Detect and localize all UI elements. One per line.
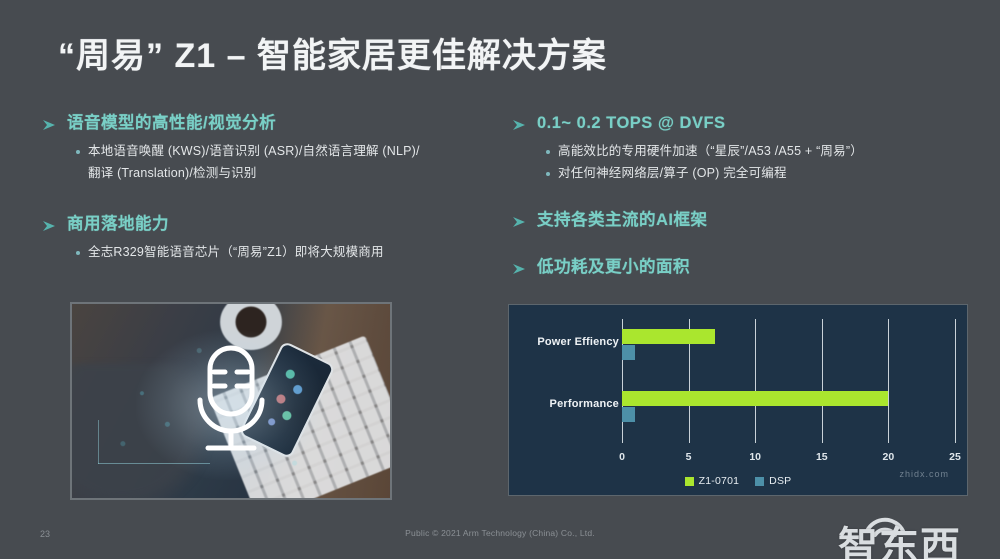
bullet-heading-text: 支持各类主流的AI框架 (537, 209, 708, 231)
dot-bullet-icon (546, 150, 550, 154)
bullet-heading-text: 0.1~ 0.2 TOPS @ DVFS (537, 112, 726, 134)
microphone-icon (192, 344, 270, 458)
bullet-heading-text: 低功耗及更小的面积 (537, 256, 690, 278)
chart-legend-label: DSP (769, 475, 791, 487)
bullet-heading-row: 语音模型的高性能/视觉分析 (42, 112, 512, 135)
bullet-heading-row: 0.1~ 0.2 TOPS @ DVFS (512, 112, 982, 135)
sub-bullet-list: 高能效比的专用硬件加速（“星辰”/A53 /A55 + “周易”） 对任何神经网… (546, 141, 982, 183)
chart-tick-label: 25 (949, 451, 961, 463)
chart-gridline (822, 319, 823, 443)
chart-tick-label: 20 (883, 451, 895, 463)
chart-gridline (888, 319, 889, 443)
chart-tick-label: 5 (686, 451, 692, 463)
bullet-heading-row: 商用落地能力 (42, 213, 512, 236)
chart-legend-item: Z1-0701 (685, 475, 740, 487)
chart-legend-swatch (685, 477, 694, 486)
right-content-column: 0.1~ 0.2 TOPS @ DVFS 高能效比的专用硬件加速（“星辰”/A5… (512, 112, 982, 293)
bullet-heading-row: 低功耗及更小的面积 (512, 256, 982, 279)
sub-bullet-item: 对任何神经网络层/算子 (OP) 完全可编程 (546, 163, 982, 183)
chart-tick-label: 0 (619, 451, 625, 463)
sub-bullet-list: 全志R329智能语音芯片（“周易”Z1）即将大规模商用 (76, 242, 512, 262)
sub-bullet-text: 全志R329智能语音芯片（“周易”Z1）即将大规模商用 (88, 242, 384, 262)
chart-category-label: Performance (515, 398, 619, 410)
chart-watermark: zhidx.com (899, 469, 949, 479)
chart-legend-item: DSP (755, 475, 791, 487)
photo-scene (72, 304, 390, 498)
chart-gridline (755, 319, 756, 443)
dot-bullet-icon (76, 150, 80, 154)
chart-category-label: Power Effiency (515, 336, 619, 348)
bullet-heading-text: 商用落地能力 (67, 213, 169, 235)
chart-legend: Z1-0701DSP (509, 475, 967, 487)
sub-bullet-list: 本地语音唤醒 (KWS)/语音识别 (ASR)/自然语言理解 (NLP)/ 翻译… (76, 141, 512, 183)
dot-bullet-icon (546, 172, 550, 176)
dot-bullet-icon (76, 251, 80, 255)
sub-bullet-text: 本地语音唤醒 (KWS)/语音识别 (ASR)/自然语言理解 (NLP)/ (88, 141, 420, 161)
chart-bar (622, 407, 635, 422)
sub-bullet-item: 高能效比的专用硬件加速（“星辰”/A53 /A55 + “周易”） (546, 141, 982, 161)
slide-photo (70, 302, 392, 500)
bullet-heading-row: 支持各类主流的AI框架 (512, 209, 982, 232)
arrow-bullet-icon (512, 259, 527, 279)
chart-bar (622, 391, 888, 406)
bullet-heading-text: 语音模型的高性能/视觉分析 (67, 112, 276, 134)
bullet-group: 商用落地能力 全志R329智能语音芯片（“周易”Z1）即将大规模商用 (42, 213, 512, 262)
benchmark-bar-chart: Power EffiencyPerformance 0510152025 Z1-… (508, 304, 968, 496)
footer-copyright: Public © 2021 Arm Technology (China) Co.… (0, 528, 1000, 538)
sub-bullet-item: 翻译 (Translation)/检测与识别 (76, 163, 512, 183)
bullet-group: 语音模型的高性能/视觉分析 本地语音唤醒 (KWS)/语音识别 (ASR)/自然… (42, 112, 512, 183)
sub-bullet-text: 翻译 (Translation)/检测与识别 (88, 163, 257, 183)
arrow-bullet-icon (42, 216, 57, 236)
bullet-group: 支持各类主流的AI框架 (512, 209, 982, 232)
left-content-column: 语音模型的高性能/视觉分析 本地语音唤醒 (KWS)/语音识别 (ASR)/自然… (42, 112, 512, 276)
slide-title: “周易” Z1 – 智能家居更佳解决方案 (58, 28, 607, 77)
sub-bullet-item: 本地语音唤醒 (KWS)/语音识别 (ASR)/自然语言理解 (NLP)/ (76, 141, 512, 161)
chart-legend-swatch (755, 477, 764, 486)
arrow-bullet-icon (512, 212, 527, 232)
sub-bullet-text: 对任何神经网络层/算子 (OP) 完全可编程 (558, 163, 787, 183)
chart-gridline (955, 319, 956, 443)
bullet-group: 低功耗及更小的面积 (512, 256, 982, 279)
bullet-group: 0.1~ 0.2 TOPS @ DVFS 高能效比的专用硬件加速（“星辰”/A5… (512, 112, 982, 183)
chart-legend-label: Z1-0701 (699, 475, 740, 487)
photo-hud-line (98, 420, 99, 464)
presentation-slide: “周易” Z1 – 智能家居更佳解决方案 语音模型的高性能/视觉分析 本地语音唤… (0, 0, 1000, 559)
sub-bullet-item: 全志R329智能语音芯片（“周易”Z1）即将大规模商用 (76, 242, 512, 262)
arrow-bullet-icon (512, 115, 527, 135)
chart-tick-label: 15 (816, 451, 828, 463)
sub-bullet-text: 高能效比的专用硬件加速（“星辰”/A53 /A55 + “周易”） (558, 141, 863, 161)
chart-bar (622, 345, 635, 360)
chart-tick-label: 10 (749, 451, 761, 463)
arrow-bullet-icon (42, 115, 57, 135)
chart-bar (622, 329, 715, 344)
